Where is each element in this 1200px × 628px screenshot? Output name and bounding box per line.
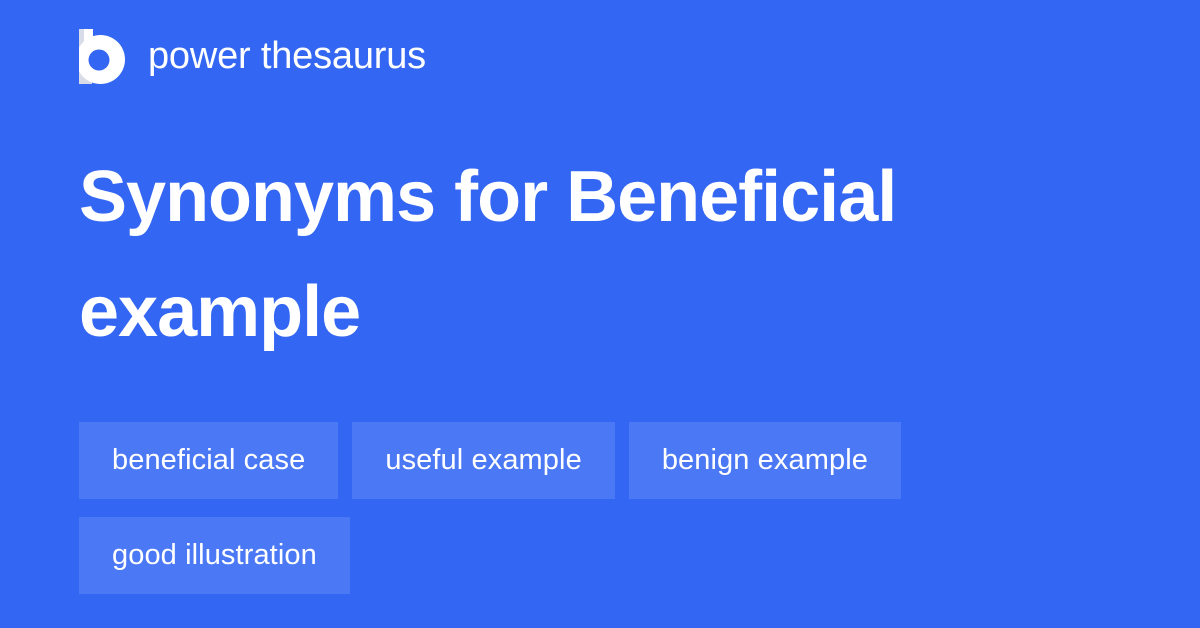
synonym-chip[interactable]: good illustration xyxy=(79,517,350,594)
synonym-chip[interactable]: benign example xyxy=(629,422,901,499)
page-title: Synonyms for Beneficial example xyxy=(79,140,1139,370)
synonym-chip[interactable]: useful example xyxy=(352,422,614,499)
power-thesaurus-b-logo-icon xyxy=(79,29,126,84)
synonym-chip-list: beneficial case useful example benign ex… xyxy=(79,422,1129,594)
synonym-share-card: power thesaurus Synonyms for Beneficial … xyxy=(0,0,1200,628)
brand-name: power thesaurus xyxy=(148,37,426,75)
synonym-chip[interactable]: beneficial case xyxy=(79,422,338,499)
brand-header[interactable]: power thesaurus xyxy=(79,26,426,86)
